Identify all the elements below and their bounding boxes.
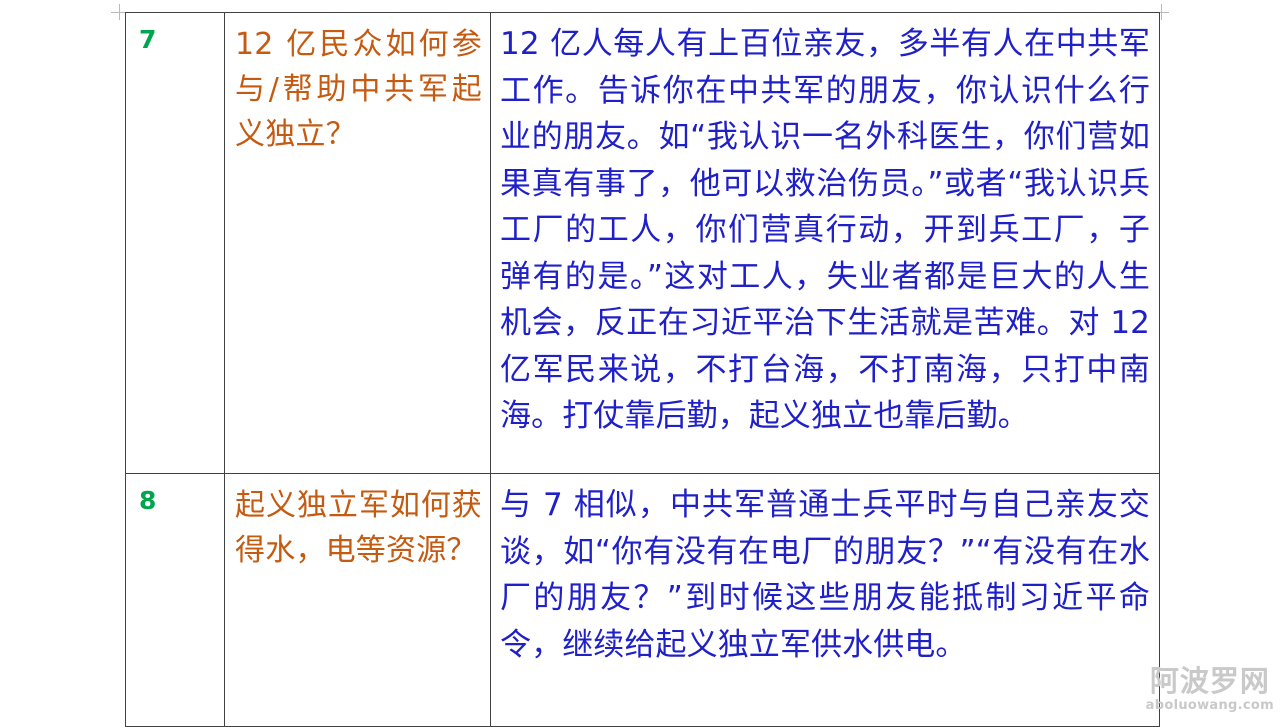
question-cell: 起义独立军如何获得水，电等资源？ [225, 474, 491, 727]
row-number-cell: 7 [126, 13, 225, 474]
document-page: 7 12 亿民众如何参与/帮助中共军起义独立？ 12 亿人每人有上百位亲友，多半… [0, 0, 1280, 720]
answer-cell: 与 7 相似，中共军普通士兵平时与自己亲友交谈，如“你有没有在电厂的朋友？”“有… [491, 474, 1160, 727]
watermark-latin: aboluowang.com [1146, 699, 1274, 712]
question-cell: 12 亿民众如何参与/帮助中共军起义独立？ [225, 13, 491, 474]
site-watermark: 阿波罗网 aboluowang.com [1146, 667, 1274, 712]
answer-cell: 12 亿人每人有上百位亲友，多半有人在中共军工作。告诉你在中共军的朋友，你认识什… [491, 13, 1160, 474]
table-row: 7 12 亿民众如何参与/帮助中共军起义独立？ 12 亿人每人有上百位亲友，多半… [126, 13, 1160, 474]
qa-table: 7 12 亿民众如何参与/帮助中共军起义独立？ 12 亿人每人有上百位亲友，多半… [125, 12, 1160, 727]
row-number-cell: 8 [126, 474, 225, 727]
table-row: 8 起义独立军如何获得水，电等资源？ 与 7 相似，中共军普通士兵平时与自己亲友… [126, 474, 1160, 727]
watermark-chinese: 阿波罗网 [1146, 667, 1274, 696]
